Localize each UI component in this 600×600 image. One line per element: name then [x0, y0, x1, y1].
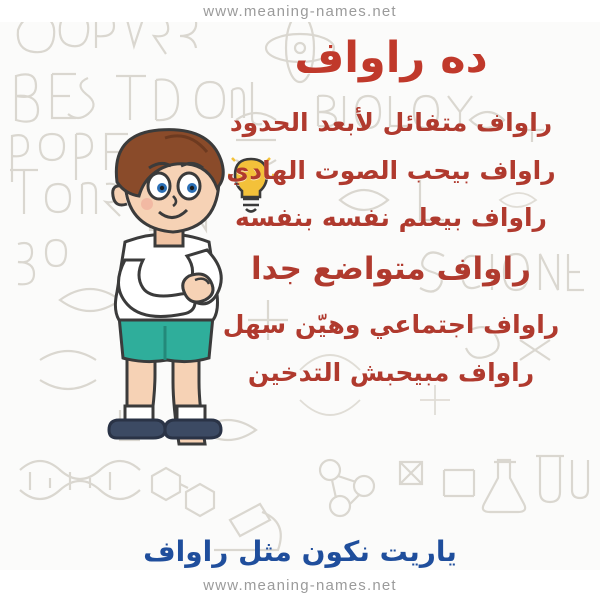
text-column: ده راواف راواف متفائل لأبعد الحدود راواف… [196, 20, 586, 403]
page-title: ده راواف [196, 32, 586, 86]
name-meaning-card: www.meaning-names.net www.meaning-names.… [0, 0, 600, 600]
footer-wish-text: ياريت نكون مثل راواف [0, 535, 600, 568]
trait-line-2: راواف بيحب الصوت الهادي [196, 154, 586, 188]
trait-line-6: راواف مبيحبش التدخين [196, 356, 586, 390]
trait-line-5: راواف اجتماعي وهيّن سهل [196, 308, 586, 342]
watermark-bottom: www.meaning-names.net [0, 577, 600, 594]
trait-line-1: راواف متفائل لأبعد الحدود [196, 106, 586, 140]
watermark-top: www.meaning-names.net [0, 3, 600, 20]
trait-line-3: راواف بيعلم نفسه بنفسه [196, 201, 586, 235]
trait-line-4: راواف متواضع جدا [196, 249, 586, 291]
